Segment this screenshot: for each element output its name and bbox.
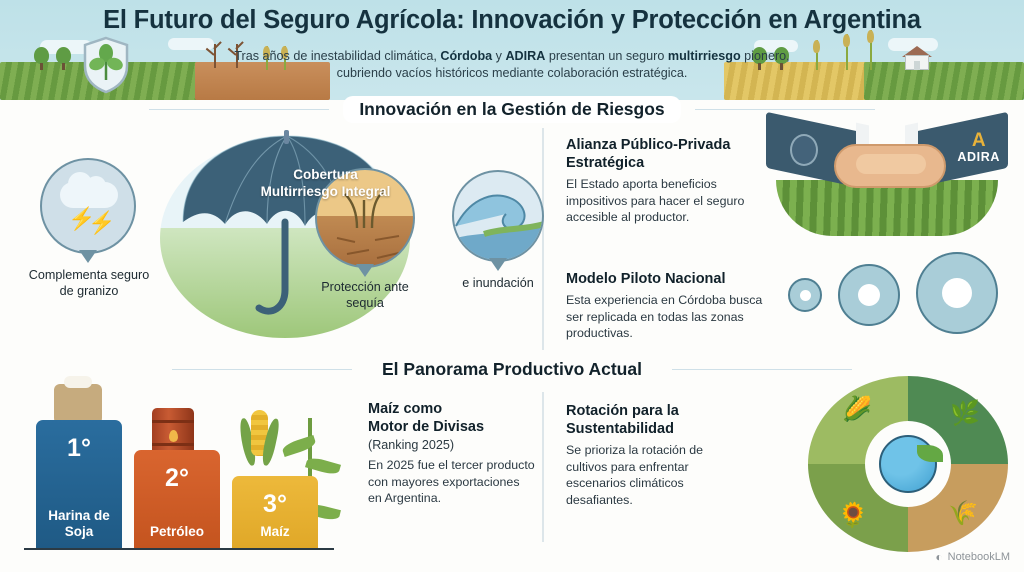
text-block-maiz: Maíz como Motor de Divisas (Ranking 2025… xyxy=(368,400,536,507)
rank-number: 2° xyxy=(134,464,220,492)
expanding-rings-illustration xyxy=(768,252,1008,324)
block-body: Se prioriza la rotación de cultivos para… xyxy=(566,442,746,508)
column-divider xyxy=(542,392,544,542)
divider-line xyxy=(695,109,875,111)
green-field xyxy=(864,62,1024,100)
globe-leaf-icon xyxy=(879,435,937,493)
section-title-production: El Panorama Productivo Actual xyxy=(366,356,658,383)
rank-bar-3: 3° Maíz xyxy=(232,476,318,548)
pin-tail xyxy=(79,250,97,263)
rank-bar-2: 2° Petróleo xyxy=(134,450,220,548)
tree-icon xyxy=(34,47,49,70)
umbrella-label: Cobertura Multirriesgo Integral xyxy=(258,166,393,200)
adira-mark: A xyxy=(957,132,1000,150)
block-body: En 2025 fue el tercer producto con mayor… xyxy=(368,457,536,507)
ring-small xyxy=(788,278,822,312)
divider-line xyxy=(172,369,352,371)
section-header-production: El Panorama Productivo Actual xyxy=(0,356,1024,383)
wheel-center xyxy=(865,421,951,507)
body-area: Cobertura Multirriesgo Integral ⚡ ⚡ Comp… xyxy=(0,100,1024,572)
rank-number: 3° xyxy=(232,490,318,518)
field-arc xyxy=(776,180,998,236)
callout-label-hail: Complementa seguro de granizo xyxy=(28,268,150,299)
wheat-icon xyxy=(812,40,821,70)
page-title: El Futuro del Seguro Agrícola: Innovació… xyxy=(0,6,1024,35)
section-header-risk: Innovación en la Gestión de Riesgos xyxy=(0,96,1024,123)
block-heading: Alianza Público-Privada Estratégica xyxy=(566,136,771,172)
argentina-emblem-icon xyxy=(790,134,818,166)
notebooklm-label: NotebookLM xyxy=(948,551,1010,563)
wheat-icon xyxy=(866,30,875,70)
notebooklm-watermark: ◐ NotebookLM xyxy=(935,550,1010,564)
block-body: Esta experiencia en Córdoba busca ser re… xyxy=(566,292,771,342)
tree-icon xyxy=(56,47,71,70)
page-subtitle: Tras años de inestabilidad climática, Có… xyxy=(222,48,802,82)
infographic-page: El Futuro del Seguro Agrícola: Innovació… xyxy=(0,0,1024,572)
block-heading-line1: Rotación para la xyxy=(566,402,746,420)
text-block-alianza: Alianza Público-Privada Estratégica El E… xyxy=(566,136,771,226)
column-divider xyxy=(542,128,544,350)
storm-hail-icon: ⚡ ⚡ xyxy=(40,158,136,254)
section-title-risk: Innovación en la Gestión de Riesgos xyxy=(343,96,680,123)
pin-tail xyxy=(489,258,507,271)
ring-medium xyxy=(838,264,900,326)
header-banner: El Futuro del Seguro Agrícola: Innovació… xyxy=(0,0,1024,100)
pin-tail xyxy=(356,264,374,277)
rank-label: Maíz xyxy=(232,524,318,540)
baseline xyxy=(24,548,334,551)
flood-wave-icon xyxy=(452,170,544,262)
wheat-segment-icon: 🌾 xyxy=(948,502,978,526)
sunflower-segment-icon: 🌻 xyxy=(838,504,868,528)
ring-large xyxy=(916,252,998,334)
block-heading-line2: Sustentabilidad xyxy=(566,420,746,438)
subtitle-bold-cordoba: Córdoba xyxy=(440,49,492,63)
block-heading-line2: Motor de Divisas xyxy=(368,418,536,436)
dead-tree-icon xyxy=(214,44,216,68)
divider-line xyxy=(672,369,852,371)
subtitle-part-1: Tras años de inestabilidad climática, xyxy=(234,49,440,63)
crop-rotation-wheel: 🌽 🌿 🌾 🌻 xyxy=(808,376,1008,552)
block-subheading: (Ranking 2025) xyxy=(368,437,536,453)
subtitle-part-2: y xyxy=(492,49,505,63)
text-block-modelo-piloto: Modelo Piloto Nacional Esta experiencia … xyxy=(566,270,771,342)
clasped-hands-icon xyxy=(834,144,946,188)
subtitle-part-3: presentan un seguro xyxy=(545,49,668,63)
text-block-rotacion: Rotación para la Sustentabilidad Se prio… xyxy=(566,402,746,508)
risk-illustration: Cobertura Multirriesgo Integral ⚡ ⚡ Comp… xyxy=(20,130,540,350)
callout-label-drought: Protección ante sequía xyxy=(312,280,418,311)
block-heading: Modelo Piloto Nacional xyxy=(566,270,771,288)
block-heading-line1: Maíz como xyxy=(368,400,536,418)
adira-logo: A ADIRA xyxy=(957,132,1000,164)
wheat-icon xyxy=(842,34,851,70)
corn-segment-icon: 🌽 xyxy=(842,398,872,422)
rank-label: Harina de Soja xyxy=(36,508,122,540)
handshake-illustration: A ADIRA xyxy=(762,118,1012,238)
corn-cob-icon xyxy=(242,410,276,486)
adira-name: ADIRA xyxy=(957,150,1000,164)
shield-plant-icon xyxy=(82,36,130,94)
block-body: El Estado aporta beneficios impositivos … xyxy=(566,176,771,226)
ranking-chart: 1° Harina de Soja 2° Petróleo 3° Maíz xyxy=(14,390,344,558)
rank-label: Petróleo xyxy=(134,524,220,540)
farmhouse-icon xyxy=(902,46,932,70)
rank-bar-1: 1° Harina de Soja xyxy=(36,420,122,548)
callout-label-flood: e inundación xyxy=(448,276,548,292)
notebooklm-logo-icon: ◐ xyxy=(935,550,942,564)
subtitle-bold-adira: ADIRA xyxy=(505,49,545,63)
divider-line xyxy=(149,109,329,111)
soy-segment-icon: 🌿 xyxy=(950,402,980,426)
rank-number: 1° xyxy=(36,434,122,462)
subtitle-bold-multirriesgo: multirriesgo xyxy=(668,49,741,63)
